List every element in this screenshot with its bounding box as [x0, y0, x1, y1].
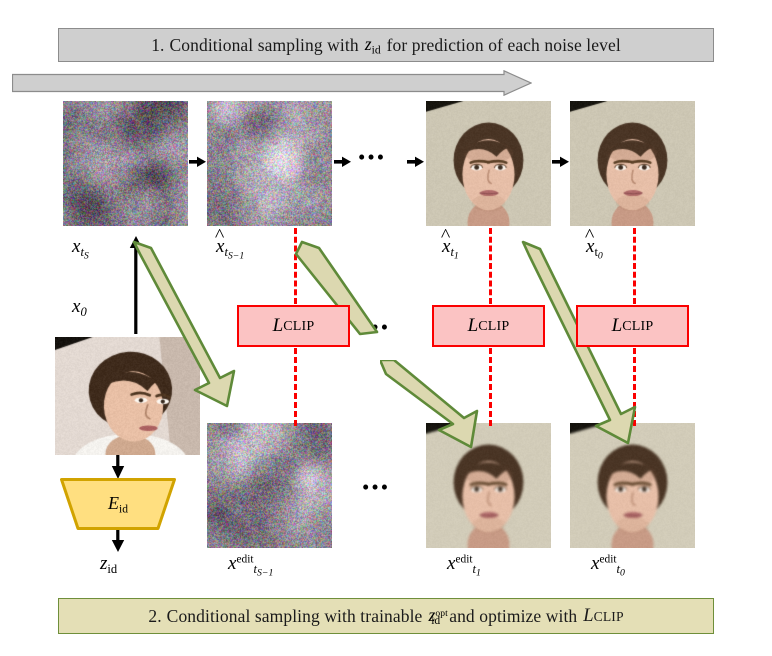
label-z-id: zid: [100, 553, 117, 577]
step-arrow-icon-4: [552, 152, 569, 172]
stage-1-text-before: Conditional sampling with: [170, 35, 359, 56]
stage-2-index: 2.: [148, 606, 161, 627]
image-tile-xhat-t0: [570, 101, 695, 226]
label-xhat-t1: xt1: [442, 236, 459, 262]
label-x-ts: xtS: [72, 236, 89, 262]
sampling-arrow-icon-1: [104, 240, 254, 416]
stage-2-loss: LCLIP: [583, 605, 623, 627]
image-tile-xhat-ts-1: [207, 101, 332, 226]
stage-2-symbol: zoptid: [428, 605, 440, 628]
process-direction-arrow-icon: [12, 70, 532, 96]
stage-1-text-after: for prediction of each noise level: [387, 35, 621, 56]
ellipsis-top-row: •••: [358, 147, 386, 168]
label-xedit-t1: xeditt1: [447, 553, 481, 579]
stage-2-banner: 2. Conditional sampling with trainable z…: [58, 598, 714, 634]
stage-2-text-mid: and optimize with: [449, 606, 577, 627]
label-x-0: x0: [72, 296, 87, 320]
image-tile-xedit-ts-1: [207, 423, 332, 548]
sampling-arrow-icon-2-head: [380, 360, 500, 452]
step-arrow-icon-3: [407, 152, 424, 172]
step-arrow-icon-1: [189, 152, 206, 172]
clip-dashed-line-bottom-1: [294, 348, 297, 426]
label-xedit-ts-1: xedittS−1: [228, 553, 273, 579]
ellipsis-bottom-row: •••: [362, 477, 390, 498]
encode-arrow-icon: [108, 455, 128, 479]
stage-1-banner: 1. Conditional sampling with zid for pre…: [58, 28, 714, 62]
image-tile-xhat-t1: [426, 101, 551, 226]
clip-loss-box-2: LCLIP: [432, 305, 545, 347]
clip-dashed-line-top-2: [489, 228, 492, 304]
stage-2-text-before: Conditional sampling with trainable: [167, 606, 423, 627]
stage-1-symbol: zid: [365, 34, 381, 57]
clip-loss-box-1: LCLIP: [237, 305, 350, 347]
step-arrow-icon-2: [334, 152, 351, 172]
clip-loss-box-3: LCLIP: [576, 305, 689, 347]
label-xedit-t0: xeditt0: [591, 553, 625, 579]
latent-arrow-icon: [108, 530, 128, 552]
stage-1-index: 1.: [151, 35, 164, 56]
image-tile-x-ts: [63, 101, 188, 226]
encoder-label: Eid: [60, 478, 176, 530]
